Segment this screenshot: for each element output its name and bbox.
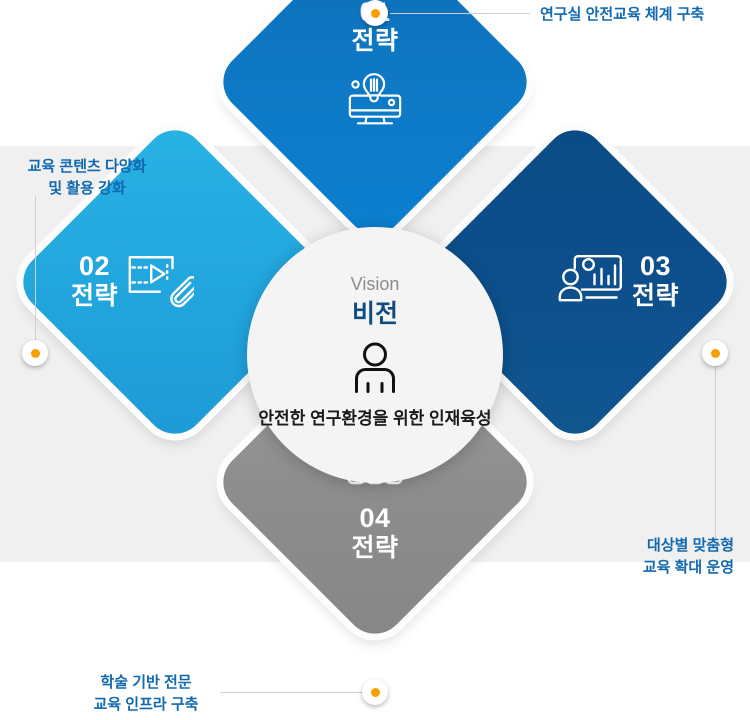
strategy-03-textblock: 03 전략: [632, 252, 679, 312]
dot-core-icon: [711, 349, 720, 358]
connector-dot-top[interactable]: [362, 0, 388, 26]
vision-label-en: Vision: [351, 275, 400, 293]
connector-dot-left[interactable]: [22, 340, 48, 366]
dot-core-icon: [371, 9, 380, 18]
connector-dot-bottom[interactable]: [362, 679, 388, 705]
callout-strategy-04: 학술 기반 전문 교육 인프라 구축: [76, 672, 216, 716]
video-attachment-icon: [126, 251, 194, 314]
person-icon: [347, 341, 403, 402]
connector-dot-right[interactable]: [702, 340, 728, 366]
strategy-02-textblock: 02 전략: [71, 252, 118, 312]
vision-description: 안전한 연구환경을 위한 인재육성: [258, 408, 491, 431]
strategy-01-label: 전략: [351, 26, 398, 57]
presentation-chart-person-icon: [558, 252, 624, 313]
strategy-02-label: 전략: [71, 281, 118, 312]
vision-circle[interactable]: Vision 비전 안전한 연구환경을 위한 인재육성: [247, 227, 503, 483]
strategy-03-number: 03: [640, 252, 671, 280]
leader-line-bottom: [220, 692, 363, 693]
leader-line-right: [715, 353, 716, 543]
strategy-04-textblock: 04 전략: [351, 504, 398, 564]
callout-strategy-02: 교육 콘텐츠 다양화 및 활용 강화: [12, 156, 162, 200]
lightbulb-monitor-icon: [346, 72, 404, 131]
callout-strategy-03: 대상별 맞춤형 교육 확대 운영: [612, 535, 734, 579]
leader-line-left: [35, 196, 36, 342]
vision-label-ko: 비전: [352, 299, 398, 329]
infographic-canvas: 01 전략 02 전략: [0, 0, 750, 720]
leader-line-top: [390, 13, 530, 14]
strategy-04-label: 전략: [351, 533, 398, 564]
dot-core-icon: [31, 349, 40, 358]
callout-strategy-01: 연구실 안전교육 체계 구축: [540, 4, 704, 26]
strategy-02-number: 02: [79, 252, 110, 280]
strategy-04-number: 04: [359, 504, 390, 532]
strategy-03-label: 전략: [632, 281, 679, 312]
dot-core-icon: [371, 688, 380, 697]
